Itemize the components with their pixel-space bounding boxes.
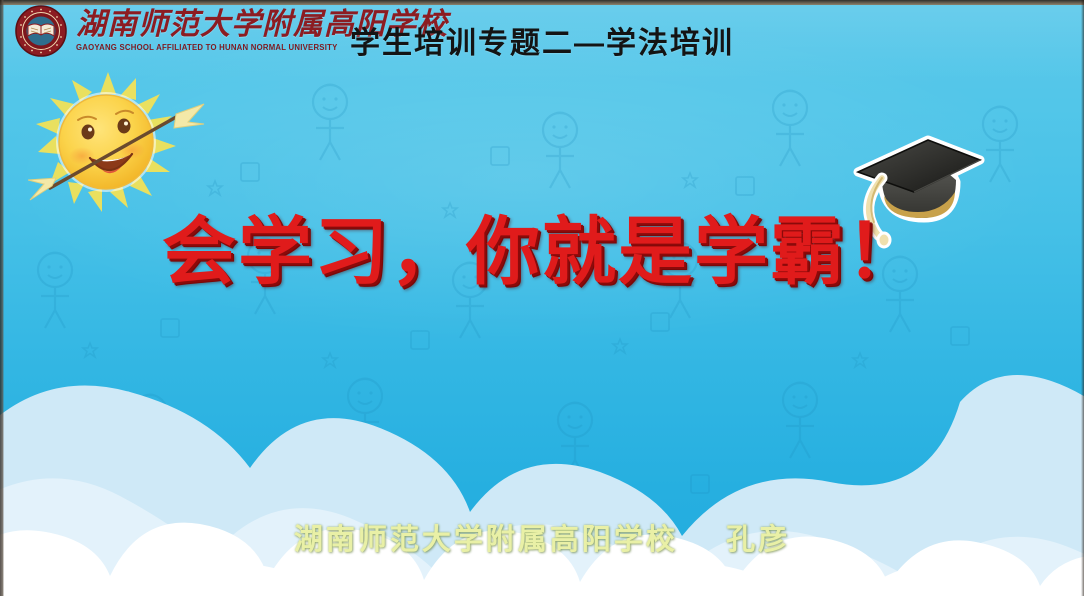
slide-byline: 湖南师范大学附属高阳学校 孔彦 (0, 516, 1084, 558)
byline-presenter: 孔彦 (726, 524, 790, 556)
frame-edge-left (0, 0, 4, 596)
frame-edge-top (0, 0, 1084, 5)
presentation-slide: 湖南师范大学附属高阳学校 GAOYANG SCHOOL AFFILIATED T… (0, 0, 1084, 596)
slide-headline: 会学习，你就是学霸！ (0, 192, 1084, 299)
byline-school: 湖南师范大学附属高阳学校 (294, 524, 678, 556)
slide-header-title: 学生培训专题二—学法培训 (0, 18, 1084, 62)
